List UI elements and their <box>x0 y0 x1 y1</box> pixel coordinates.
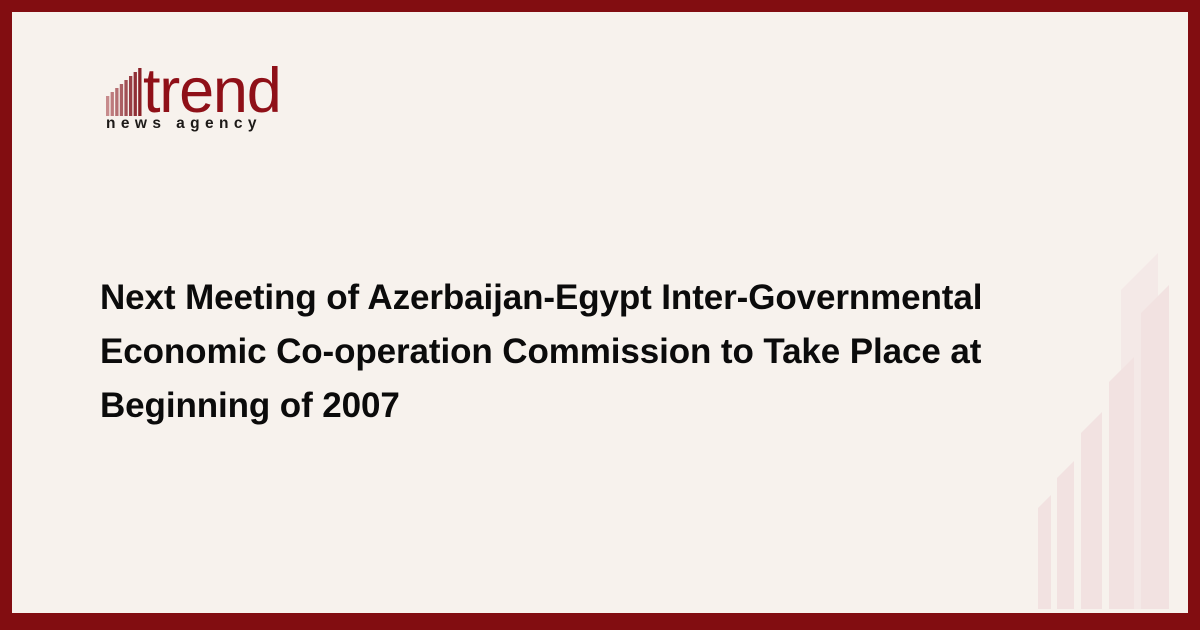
logo-mark: trend <box>98 58 278 116</box>
card-canvas: trend news agency Next Meeting of Azerba… <box>12 12 1188 613</box>
ascending-bars-icon <box>106 68 142 116</box>
svg-text:trend: trend <box>143 58 278 116</box>
social-card: trend news agency Next Meeting of Azerba… <box>0 0 1200 630</box>
logo-tagline: news agency <box>106 115 262 133</box>
trend-news-agency-logo[interactable]: trend news agency <box>98 46 398 146</box>
headline: Next Meeting of Azerbaijan-Egypt Inter-G… <box>100 271 1072 433</box>
